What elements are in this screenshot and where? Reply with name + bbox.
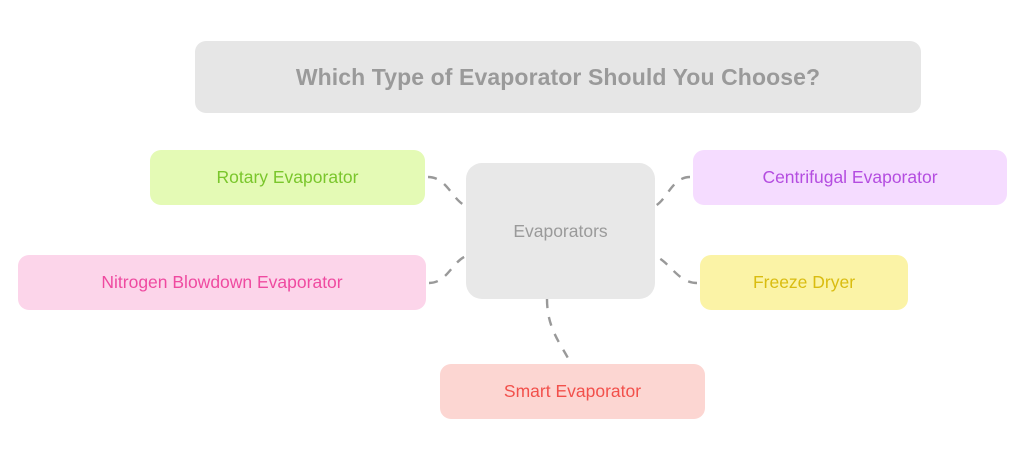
branch-label-smart-evaporator: Smart Evaporator (504, 381, 641, 401)
branch-node-freeze-dryer[interactable]: Freeze Dryer (700, 255, 908, 310)
page-title-label: Which Type of Evaporator Should You Choo… (296, 64, 820, 90)
branch-node-rotary-evaporator[interactable]: Rotary Evaporator (150, 150, 425, 205)
branch-label-nitrogen-blowdown-evaporator: Nitrogen Blowdown Evaporator (101, 272, 342, 292)
edge-center-to-smart (547, 299, 571, 364)
branch-label-rotary-evaporator: Rotary Evaporator (216, 167, 358, 187)
page-title: Which Type of Evaporator Should You Choo… (195, 41, 921, 113)
center-node-evaporators[interactable]: Evaporators (466, 163, 655, 299)
edge-center-to-centrifugal (655, 177, 690, 206)
branch-node-centrifugal-evaporator[interactable]: Centrifugal Evaporator (693, 150, 1007, 205)
branch-label-centrifugal-evaporator: Centrifugal Evaporator (762, 167, 937, 187)
edge-center-to-freeze-dryer (655, 256, 697, 283)
branch-node-smart-evaporator[interactable]: Smart Evaporator (440, 364, 705, 419)
edge-center-to-rotary (428, 177, 466, 206)
edge-center-to-nitrogen (429, 256, 466, 283)
center-node-label: Evaporators (513, 221, 607, 241)
branch-node-nitrogen-blowdown-evaporator[interactable]: Nitrogen Blowdown Evaporator (18, 255, 426, 310)
branch-label-freeze-dryer: Freeze Dryer (753, 272, 855, 292)
mindmap-canvas: Which Type of Evaporator Should You Choo… (0, 0, 1024, 453)
